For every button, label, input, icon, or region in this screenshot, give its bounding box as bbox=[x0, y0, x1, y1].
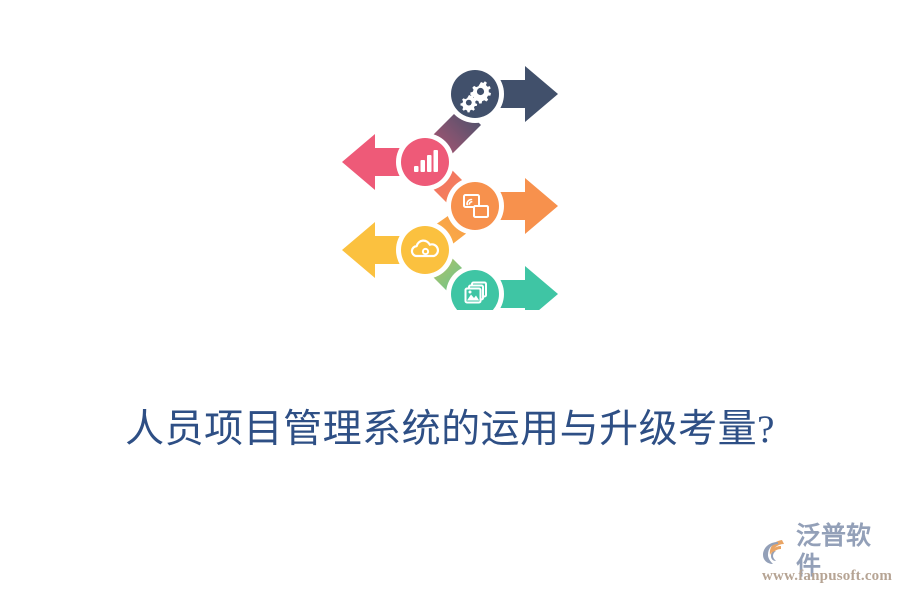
image-gallery-icon bbox=[466, 283, 487, 303]
watermark-brand-row: 泛普软件 bbox=[762, 534, 892, 568]
arrow-screen-cast bbox=[446, 177, 558, 235]
icon-disc-yellow bbox=[401, 226, 449, 274]
page-title: 人员项目管理系统的运用与升级考量? bbox=[0, 404, 900, 456]
arrow-bar-chart bbox=[342, 133, 454, 191]
fanpu-logo-icon bbox=[762, 536, 794, 566]
page-canvas: 人员项目管理系统的运用与升级考量? 泛普软件 www.fanpusoft.com bbox=[0, 0, 900, 600]
watermark-logo: 泛普软件 www.fanpusoft.com bbox=[762, 534, 892, 590]
arrow-cloud bbox=[342, 221, 454, 279]
watermark-url: www.fanpusoft.com bbox=[762, 567, 892, 585]
arrow-gears bbox=[446, 65, 558, 123]
arrow-image-gallery bbox=[446, 265, 558, 310]
infographic-graphic bbox=[320, 60, 580, 310]
